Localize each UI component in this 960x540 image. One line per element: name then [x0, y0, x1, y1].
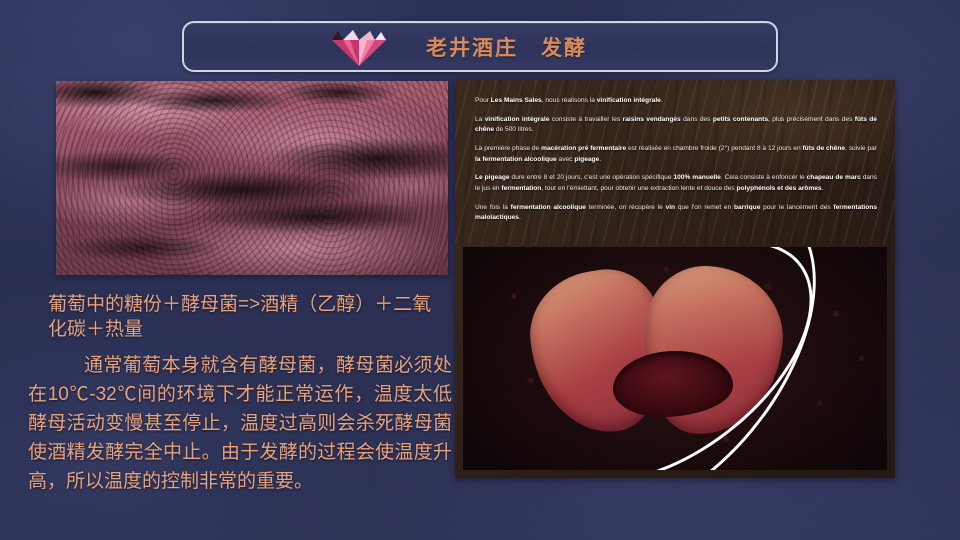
title-bar: 老井酒庄 发酵	[182, 21, 778, 72]
french-description-text: Pour Les Mains Sales, nous réalisons la …	[475, 96, 877, 232]
diamond-icon	[326, 27, 392, 67]
french-paragraph-2: La vinification intégrale consiste à tra…	[475, 115, 877, 136]
pigeage-hands-photo	[463, 247, 887, 470]
fermentation-equation-text: 葡萄中的糖份＋酵母菌=>酒精（乙醇）＋二氧化碳＋热量	[48, 292, 448, 343]
french-paragraph-3: La première phase de macération pré ferm…	[475, 144, 877, 165]
french-paragraph-4: Le pigeage dure entre 8 et 20 jours, c'e…	[475, 173, 877, 194]
must-texture-layer	[56, 81, 448, 275]
fermentation-body-text: 通常葡萄本身就含有酵母菌，酵母菌必须处在10℃-32℃间的环境下才能正常运作，温…	[28, 352, 452, 496]
page-title: 老井酒庄 发酵	[426, 32, 587, 62]
french-paragraph-1: Pour Les Mains Sales, nous réalisons la …	[475, 96, 877, 107]
french-paragraph-5: Une fois la fermentation alcoolique term…	[475, 203, 877, 224]
fermenting-must-photo	[56, 81, 448, 275]
right-content-panel: Pour Les Mains Sales, nous réalisons la …	[455, 80, 895, 478]
